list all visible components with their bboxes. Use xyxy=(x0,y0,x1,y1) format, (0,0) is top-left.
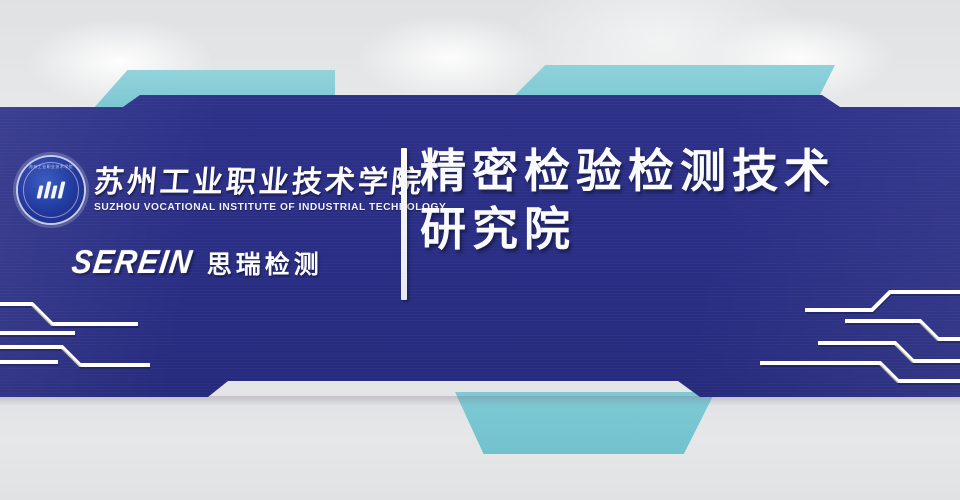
emblem-monogram xyxy=(37,182,66,199)
university-emblem-icon: 苏州工业职业技术学院 xyxy=(18,157,84,223)
emblem-arc-text: 苏州工业职业技术学院 xyxy=(18,164,84,170)
university-brand-row: 苏州工业职业技术学院 苏州工业职业技术学院 SUZHOU VOCATIONAL … xyxy=(18,157,398,223)
university-chinese-name: 苏州工业职业技术学院 xyxy=(93,167,448,198)
university-names: 苏州工业职业技术学院 SUZHOU VOCATIONAL INSTITUTE O… xyxy=(94,167,446,213)
signage-content: 苏州工业职业技术学院 苏州工业职业技术学院 SUZHOU VOCATIONAL … xyxy=(0,95,960,400)
partner-brand-row: SEREIN 思瑞检测 xyxy=(72,245,398,281)
serein-wordmark: SEREIN xyxy=(69,244,195,281)
signage-scene: 苏州工业职业技术学院 苏州工业职业技术学院 SUZHOU VOCATIONAL … xyxy=(0,0,960,500)
page-title: 精密检验检测技术 研究院 xyxy=(420,143,950,258)
university-english-name: SUZHOU VOCATIONAL INSTITUTE OF INDUSTRIA… xyxy=(94,202,446,213)
brand-block: 苏州工业职业技术学院 苏州工业职业技术学院 SUZHOU VOCATIONAL … xyxy=(18,157,398,281)
page-title-line-2: 研究院 xyxy=(420,201,950,259)
vertical-divider-bar xyxy=(401,148,407,300)
serein-chinese-name: 思瑞检测 xyxy=(207,245,323,281)
page-title-line-1: 精密检验检测技术 xyxy=(420,143,950,201)
